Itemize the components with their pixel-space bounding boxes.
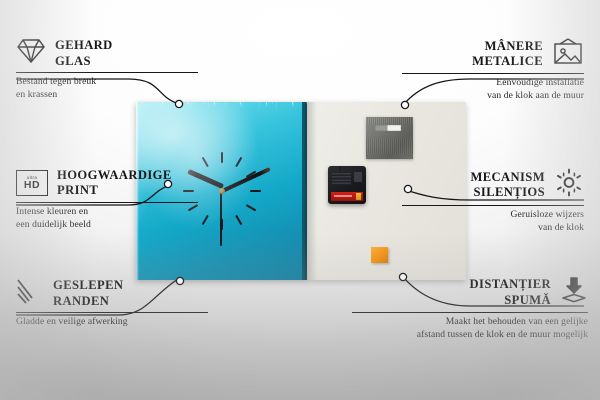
mechanism-grill xyxy=(332,173,351,185)
callout-title: GEHARD GLAS xyxy=(55,38,113,69)
callout-desc: Bestand tegen breuk en krassen xyxy=(16,76,216,101)
callout-gehard-glas[interactable]: GEHARD GLAS Bestand tegen breuk en krass… xyxy=(16,38,216,102)
battery xyxy=(331,192,363,201)
clock-mechanism xyxy=(328,166,366,204)
callout-header: ultra HD HOOGWAARDIGE PRINT xyxy=(16,168,216,199)
hand-cap xyxy=(219,188,225,194)
callout-geslepen-randen[interactable]: GESLEPEN RANDEN Gladde en veilige afwerk… xyxy=(16,278,226,329)
callout-header: MÂNERE METALICE xyxy=(384,38,584,70)
callout-title: MÂNERE METALICE xyxy=(472,39,543,70)
callout-header: GESLEPEN RANDEN xyxy=(16,278,226,309)
callout-header: MECANISM SILENȚIOS xyxy=(384,168,584,202)
panel-shadow xyxy=(307,102,317,280)
callout-header: DISTANȚIER SPUMĂ xyxy=(336,276,588,309)
callout-title: HOOGWAARDIGE PRINT xyxy=(57,168,172,199)
callout-title: MECANISM SILENȚIOS xyxy=(470,170,545,201)
callout-desc: Geruisloze wijzers van de klok xyxy=(384,209,584,234)
callout-rule xyxy=(402,205,584,206)
minute-hand xyxy=(222,167,271,193)
callout-distantier-spuma[interactable]: DISTANȚIER SPUMĂ Maakt het behouden van … xyxy=(336,276,588,342)
callout-desc: Eenvoudige installatie van de klok aan d… xyxy=(384,77,584,102)
ultra-hd-icon: ultra HD xyxy=(16,170,48,196)
bevelled-edges-icon xyxy=(16,278,44,309)
callout-mecanism-silentios[interactable]: MECANISM SILENȚIOS Geruisloze wijzers va… xyxy=(384,168,584,235)
picture-frame-icon xyxy=(552,38,584,70)
callout-title: DISTANȚIER SPUMĂ xyxy=(470,277,551,308)
second-hand xyxy=(220,190,222,246)
infographic-canvas: GEHARD GLAS Bestand tegen breuk en krass… xyxy=(0,0,600,400)
mechanism-knob xyxy=(354,172,362,182)
down-arrow-stack-icon xyxy=(560,276,588,309)
callout-header: GEHARD GLAS xyxy=(16,38,216,69)
callout-rule xyxy=(352,312,588,313)
callout-manere-metalice[interactable]: MÂNERE METALICE Eenvoudige installatie v… xyxy=(384,38,584,103)
metal-hanger-plate xyxy=(366,117,413,159)
diamond-icon xyxy=(16,38,46,69)
callout-title: GESLEPEN RANDEN xyxy=(53,278,123,309)
foam-spacer xyxy=(371,247,388,263)
callout-rule xyxy=(16,312,208,313)
callout-rule xyxy=(16,72,198,73)
callout-rule xyxy=(402,73,584,74)
callout-hoogwaardige-print[interactable]: ultra HD HOOGWAARDIGE PRINT Intense kleu… xyxy=(16,168,216,231)
gear-icon xyxy=(554,168,584,202)
callout-desc: Maakt het behouden van een gelijke afsta… xyxy=(336,316,588,341)
callout-desc: Intense kleuren en een duidelijk beeld xyxy=(16,206,216,231)
callout-desc: Gladde en veilige afwerking xyxy=(16,316,226,329)
hanger-slot xyxy=(375,125,401,131)
callout-rule xyxy=(16,202,198,203)
